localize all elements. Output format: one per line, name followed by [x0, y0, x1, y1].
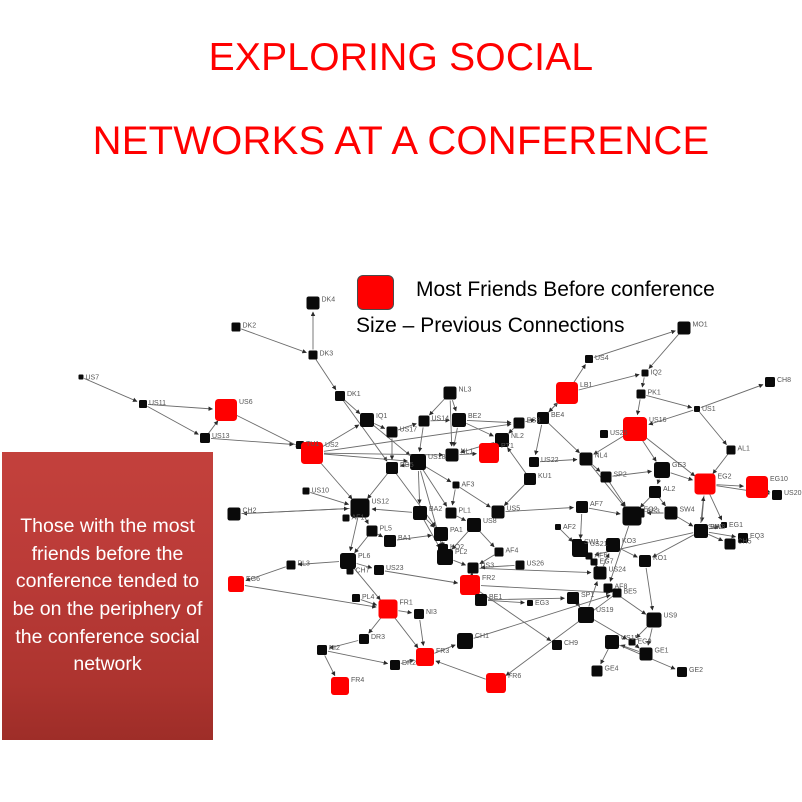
network-edge	[610, 482, 626, 506]
network-node-pl4[interactable]	[352, 594, 360, 602]
network-node-us15[interactable]	[605, 635, 619, 649]
network-node-label-ba1: BA1	[398, 535, 411, 542]
callout-box: Those with the most friends before the c…	[2, 452, 213, 740]
network-node-eg6[interactable]	[228, 576, 244, 592]
network-node-us4[interactable]	[585, 355, 593, 363]
network-edge	[423, 470, 447, 507]
network-node-label-af1: AF1	[352, 515, 365, 522]
network-node-label-us25: US25	[610, 430, 628, 437]
network-node-ko1[interactable]	[639, 555, 651, 567]
network-node-ba2[interactable]	[413, 506, 427, 520]
network-edge	[209, 421, 218, 433]
network-edge	[658, 479, 660, 484]
network-node-label-be1: BE1	[489, 594, 502, 601]
network-node-label-eg1: EG1	[729, 522, 743, 529]
network-node-fr6[interactable]	[486, 673, 506, 693]
network-node-label-sp2: SP2	[614, 472, 627, 479]
network-node-label-fr6: FR6	[508, 673, 521, 680]
network-node-label-eg2: EG2	[718, 474, 732, 481]
network-node-label-be2: BE2	[468, 413, 481, 420]
network-edge	[241, 329, 306, 353]
network-node-label-eg10: EG10	[770, 476, 788, 483]
network-node-label-pl6: PL6	[358, 553, 371, 560]
network-node-label-eg6: EG6	[246, 576, 260, 583]
network-node-label-us11: US11	[149, 400, 166, 407]
network-node-us22[interactable]	[529, 457, 539, 467]
network-node-label-us23: US23	[386, 565, 404, 572]
network-node-label-pt1: PT1	[501, 443, 514, 450]
network-node-dk3[interactable]	[309, 351, 318, 360]
network-edge	[457, 516, 466, 521]
network-edge	[452, 489, 455, 505]
network-node-label-ni2: NI2	[329, 645, 340, 652]
network-node-ni3[interactable]	[414, 609, 424, 619]
network-edge	[460, 487, 491, 507]
network-edge	[646, 568, 652, 610]
network-node-label-al1: AL1	[738, 446, 751, 453]
network-node-pl2[interactable]	[437, 549, 453, 565]
network-node-eg2[interactable]	[695, 474, 716, 495]
network-node-label-pl2: PL2	[455, 549, 468, 556]
network-edge	[659, 498, 665, 506]
network-node-label-us4: US4	[595, 355, 609, 362]
network-node-ko3[interactable]	[606, 538, 620, 552]
network-node-label-nl3: NL3	[459, 387, 472, 394]
network-node-ni2[interactable]	[317, 645, 327, 655]
network-node-iq2[interactable]	[642, 370, 649, 377]
network-node-label-ko3: KO3	[622, 538, 636, 545]
network-edge	[508, 448, 526, 474]
network-node-label-tu1: TU1	[306, 441, 319, 448]
network-edge	[700, 412, 727, 445]
network-edge	[642, 440, 656, 461]
network-node-ba1[interactable]	[384, 535, 396, 547]
network-edge	[84, 378, 137, 401]
network-edge	[620, 549, 637, 558]
network-node-pl1[interactable]	[446, 508, 457, 519]
network-node-label-dr2: DR2	[402, 660, 416, 667]
network-edge	[549, 402, 559, 412]
network-node-nl4[interactable]	[580, 453, 593, 466]
network-node-label-af2: AF2	[563, 524, 576, 531]
network-node-ge1[interactable]	[640, 648, 653, 661]
network-node-label-ch8: CH8	[777, 377, 791, 384]
network-node-label-sw4: SW4	[680, 507, 695, 514]
network-node-ch8[interactable]	[765, 377, 775, 387]
network-node-us23[interactable]	[374, 565, 384, 575]
network-node-us26[interactable]	[516, 561, 525, 570]
network-node-label-us26: US26	[527, 561, 545, 568]
network-node-label-af8: AF8	[615, 584, 628, 591]
network-edge	[418, 471, 419, 504]
network-node-label-eg7: EG7	[600, 559, 614, 566]
network-edge	[454, 428, 458, 446]
network-edge	[480, 568, 592, 572]
network-node-label-sw0: SW0	[708, 524, 723, 531]
network-node-af4[interactable]	[495, 548, 504, 557]
network-node-us6[interactable]	[215, 399, 237, 421]
network-node-label-eq3: EQ3	[750, 533, 764, 540]
network-edge	[581, 514, 582, 539]
network-edge	[355, 536, 368, 553]
network-edge	[398, 611, 411, 613]
network-node-sw0[interactable]	[694, 524, 706, 536]
network-node-label-us7: US7	[86, 375, 100, 382]
network-edge	[646, 395, 691, 407]
network-node-label-us21: US21	[590, 541, 608, 548]
network-node-fr4[interactable]	[331, 677, 349, 695]
network-edge	[536, 425, 542, 455]
network-node-us9[interactable]	[647, 613, 662, 628]
network-node-label-iq1: IQ1	[376, 413, 387, 420]
network-node-pt1[interactable]	[479, 443, 499, 463]
network-edge	[548, 423, 579, 453]
network-node-label-al2: AL2	[663, 486, 676, 493]
network-node-us10[interactable]	[303, 488, 310, 495]
network-node-ge2[interactable]	[677, 667, 687, 677]
network-node-label-dk3: DK3	[320, 351, 334, 358]
network-node-us14[interactable]	[419, 416, 430, 427]
network-node-label-us9: US9	[664, 613, 678, 620]
network-node-label-nl2: NL2	[511, 433, 524, 440]
network-edge	[324, 454, 408, 461]
network-edge	[369, 617, 382, 633]
network-node-fr2[interactable]	[460, 575, 480, 595]
network-node-label-pa1: PA1	[450, 527, 463, 534]
network-edge	[467, 420, 511, 422]
network-node-af8[interactable]	[604, 584, 613, 593]
network-node-fr3[interactable]	[416, 648, 434, 666]
network-node-us17[interactable]	[387, 427, 398, 438]
network-edge	[365, 517, 368, 524]
network-node-us16[interactable]	[623, 417, 647, 441]
network-node-af2[interactable]	[555, 524, 561, 530]
network-edge	[328, 651, 388, 663]
network-node-label-pl3: PL3	[298, 561, 311, 568]
network-node-al2[interactable]	[649, 486, 661, 498]
network-node-be1[interactable]	[475, 594, 487, 606]
network-node-ge3[interactable]	[654, 462, 670, 478]
network-node-label-ge4: GE4	[605, 666, 619, 673]
network-node-label-us14: US14	[432, 416, 450, 423]
network-node-label-us18: US18	[428, 454, 446, 461]
network-node-label-ch1: CH1	[475, 633, 489, 640]
network-edge	[350, 518, 357, 551]
network-edge	[325, 655, 335, 675]
network-node-lb1[interactable]	[556, 382, 578, 404]
network-node-label-us5: US5	[507, 506, 521, 513]
network-edge	[561, 530, 573, 542]
network-edge	[671, 473, 693, 480]
network-node-label-ku1: KU1	[538, 473, 552, 480]
network-edge	[378, 534, 383, 537]
network-node-label-ch7: CH7	[356, 568, 370, 575]
legend-label-size: Size – Previous Connections	[356, 314, 624, 338]
network-edge	[450, 401, 452, 447]
network-edge	[385, 571, 458, 583]
network-node-nl1[interactable]	[446, 449, 459, 462]
network-node-label-pl5: PL5	[380, 526, 393, 533]
network-node-us24[interactable]	[594, 567, 607, 580]
network-node-label-ni3: NI3	[426, 609, 437, 616]
network-node-ku1[interactable]	[524, 473, 536, 485]
network-node-af3[interactable]	[453, 482, 460, 489]
network-node-label-fr4: FR4	[351, 677, 364, 684]
network-edge	[701, 385, 763, 408]
network-node-label-fg5: FG5	[400, 462, 414, 469]
network-node-al1[interactable]	[727, 446, 736, 455]
network-node-label-dk2: DK2	[243, 323, 257, 330]
network-node-label-ge1: GE1	[655, 648, 669, 655]
network-node-label-fr1: FR1	[400, 600, 413, 607]
network-edge	[372, 509, 412, 512]
network-node-label-us16: US16	[649, 417, 667, 424]
network-node-label-us22: US22	[541, 457, 559, 464]
network-node-label-us19: US19	[596, 607, 614, 614]
network-node-label-eg8: EG8	[527, 418, 541, 425]
network-node-sp1[interactable]	[567, 592, 579, 604]
network-node-dr2[interactable]	[390, 660, 400, 670]
network-node-sw4[interactable]	[665, 507, 678, 520]
network-node-us3[interactable]	[468, 563, 479, 574]
network-edge	[452, 400, 456, 411]
network-node-us19[interactable]	[578, 607, 594, 623]
network-node-dr3[interactable]	[359, 634, 369, 644]
network-node-ch9[interactable]	[552, 640, 562, 650]
network-node-label-us20: US20	[784, 490, 802, 497]
network-node-label-us1: US1	[702, 406, 716, 413]
network-node-ch1[interactable]	[457, 633, 473, 649]
network-node-label-dr3: DR3	[371, 634, 385, 641]
network-node-eg10[interactable]	[746, 476, 768, 498]
network-node-label-lb1: LB1	[580, 382, 593, 389]
network-edge	[436, 661, 486, 679]
network-node-label-ge3: GE3	[672, 462, 686, 469]
network-edge	[504, 484, 525, 506]
network-node-label-pl4: PL4	[362, 594, 375, 601]
network-edge	[708, 534, 722, 540]
network-node-label-us8: US8	[483, 518, 497, 525]
legend-label-color: Most Friends Before conference	[416, 278, 715, 302]
network-node-label-dk1: DK1	[347, 391, 361, 398]
network-node-be2[interactable]	[452, 413, 466, 427]
network-edge	[768, 492, 770, 493]
network-node-label-us24: US24	[609, 567, 627, 574]
network-node-label-af6: AF6	[595, 553, 608, 560]
network-node-af1[interactable]	[343, 515, 350, 522]
network-node-label-us12: US12	[372, 499, 390, 506]
network-node-label-af3: AF3	[462, 482, 475, 489]
network-node-us7[interactable]	[79, 375, 84, 380]
network-node-label-ba2: BA2	[429, 506, 442, 513]
network-edge	[479, 531, 494, 547]
network-node-label-sp1: SP1	[581, 592, 594, 599]
network-node-label-us2: US2	[325, 442, 339, 449]
network-edge	[345, 400, 360, 414]
network-node-pl5[interactable]	[367, 526, 378, 537]
network-edge	[453, 560, 465, 565]
network-node-us8[interactable]	[467, 518, 481, 532]
network-node-label-fr2: FR2	[482, 575, 495, 582]
network-node-pl6[interactable]	[340, 553, 356, 569]
network-node-label-pl1: PL1	[459, 508, 472, 515]
network-node-us5[interactable]	[492, 506, 505, 519]
network-node-label-dk4: DK4	[322, 297, 336, 304]
network-edge	[429, 399, 445, 416]
network-node-label-ko1: KO1	[653, 555, 667, 562]
network-edge	[574, 365, 586, 383]
network-node-dk4[interactable]	[307, 297, 320, 310]
network-node-label-af4: AF4	[506, 548, 519, 555]
network-edge	[420, 620, 424, 646]
legend-red-swatch-icon	[357, 275, 394, 310]
network-node-us13[interactable]	[200, 433, 210, 443]
network-node-label-ch9: CH9	[564, 640, 578, 647]
network-edge	[147, 406, 198, 434]
network-node-ch2[interactable]	[228, 508, 241, 521]
network-edge	[368, 474, 388, 499]
network-node-label-pk1: PK1	[648, 390, 661, 397]
network-node-pk1[interactable]	[637, 390, 646, 399]
network-node-pa1[interactable]	[434, 527, 448, 541]
network-node-label-be4: BE4	[551, 412, 564, 419]
network-node-label-eg9: EG9	[638, 639, 652, 646]
network-edge	[642, 377, 644, 387]
network-node-nl3[interactable]	[444, 387, 457, 400]
network-node-label-eg3: EG3	[535, 600, 549, 607]
network-node-fr1[interactable]	[379, 600, 398, 619]
network-node-ge4[interactable]	[592, 666, 603, 677]
network-node-us1[interactable]	[694, 406, 700, 412]
network-node-eg7[interactable]	[591, 559, 598, 566]
network-edge	[394, 617, 418, 648]
network-edge	[324, 453, 443, 455]
network-edge	[601, 649, 609, 664]
network-node-label-us15: US15	[621, 635, 639, 642]
network-node-pl3[interactable]	[287, 561, 296, 570]
network-node-label-us10: US10	[312, 488, 330, 495]
callout-text: Those with the most friends before the c…	[10, 513, 205, 679]
network-node-label-us3: US3	[481, 563, 495, 570]
network-edge	[242, 509, 349, 514]
network-node-fg5[interactable]	[386, 462, 398, 474]
network-node-dk1[interactable]	[335, 391, 345, 401]
network-edge	[713, 454, 728, 473]
network-node-label-ge2: GE2	[689, 667, 703, 674]
network-node-eg3[interactable]	[527, 600, 533, 606]
network-edge	[677, 517, 693, 526]
network-node-us11[interactable]	[139, 400, 147, 408]
network-edge	[316, 360, 336, 390]
network-node-label-iq2: IQ2	[651, 370, 662, 377]
network-node-label-us13: US13	[212, 433, 230, 440]
network-edge	[710, 494, 722, 520]
network-node-sp2[interactable]	[601, 472, 612, 483]
network-node-eg8[interactable]	[514, 418, 525, 429]
network-node-label-us6: US6	[239, 399, 253, 406]
network-node-label-ch2: CH2	[243, 508, 257, 515]
network-node-label-be3: BE3	[647, 509, 660, 516]
network-node-label-fr3: FR3	[436, 648, 449, 655]
network-node-ch7[interactable]	[347, 568, 354, 575]
slide-canvas: EXPLORING SOCIAL NETWORKS AT A CONFERENC…	[0, 0, 802, 802]
legend: Most Friends Before conference Size – Pr…	[357, 272, 777, 346]
network-edge	[637, 399, 640, 414]
network-node-ch5[interactable]	[725, 539, 736, 550]
network-node-iq1[interactable]	[360, 413, 374, 427]
network-node-label-af7: AF7	[590, 501, 603, 508]
network-node-us25[interactable]	[600, 430, 608, 438]
network-node-label-nl4: NL4	[595, 453, 608, 460]
network-edge	[589, 508, 620, 514]
network-node-us20[interactable]	[772, 490, 782, 500]
network-node-label-nl1: NL1	[461, 449, 474, 456]
network-edge	[420, 427, 424, 451]
network-node-af6[interactable]	[586, 553, 593, 560]
network-edge	[653, 535, 694, 557]
network-node-af7[interactable]	[576, 501, 588, 513]
network-node-dk2[interactable]	[232, 323, 241, 332]
network-node-label-us17: US17	[400, 427, 418, 434]
